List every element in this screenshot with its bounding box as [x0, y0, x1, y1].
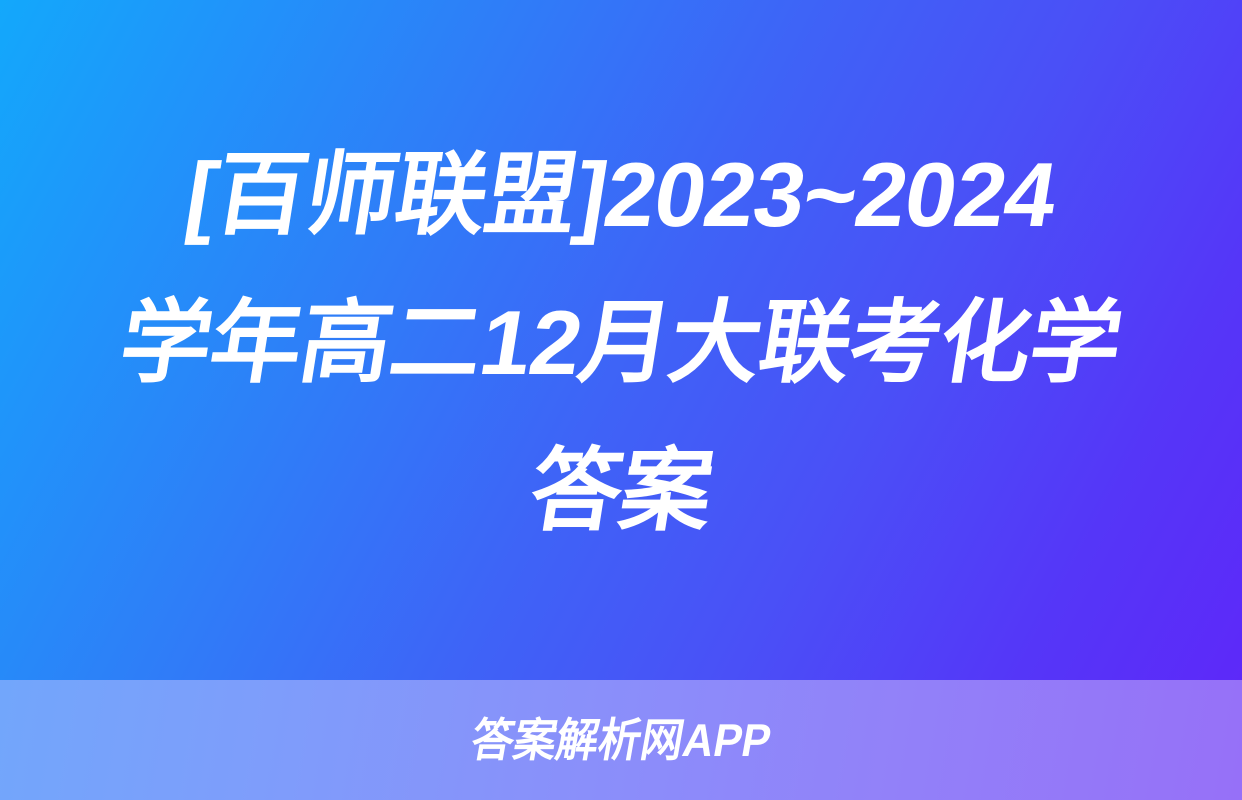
watermark-app-label: 答案解析网APP	[468, 717, 775, 763]
title-line-3: 答案	[519, 418, 722, 566]
title-card: [百师联盟]2023~2024 学年高二12月大联考化学 答案 答案解析网APP	[0, 0, 1242, 800]
watermark-band: 答案解析网APP	[0, 680, 1242, 800]
title-line-1: [百师联盟]2023~2024	[175, 122, 1066, 270]
title-line-2: 学年高二12月大联考化学	[110, 270, 1133, 418]
page-title: [百师联盟]2023~2024 学年高二12月大联考化学 答案	[0, 0, 1242, 680]
